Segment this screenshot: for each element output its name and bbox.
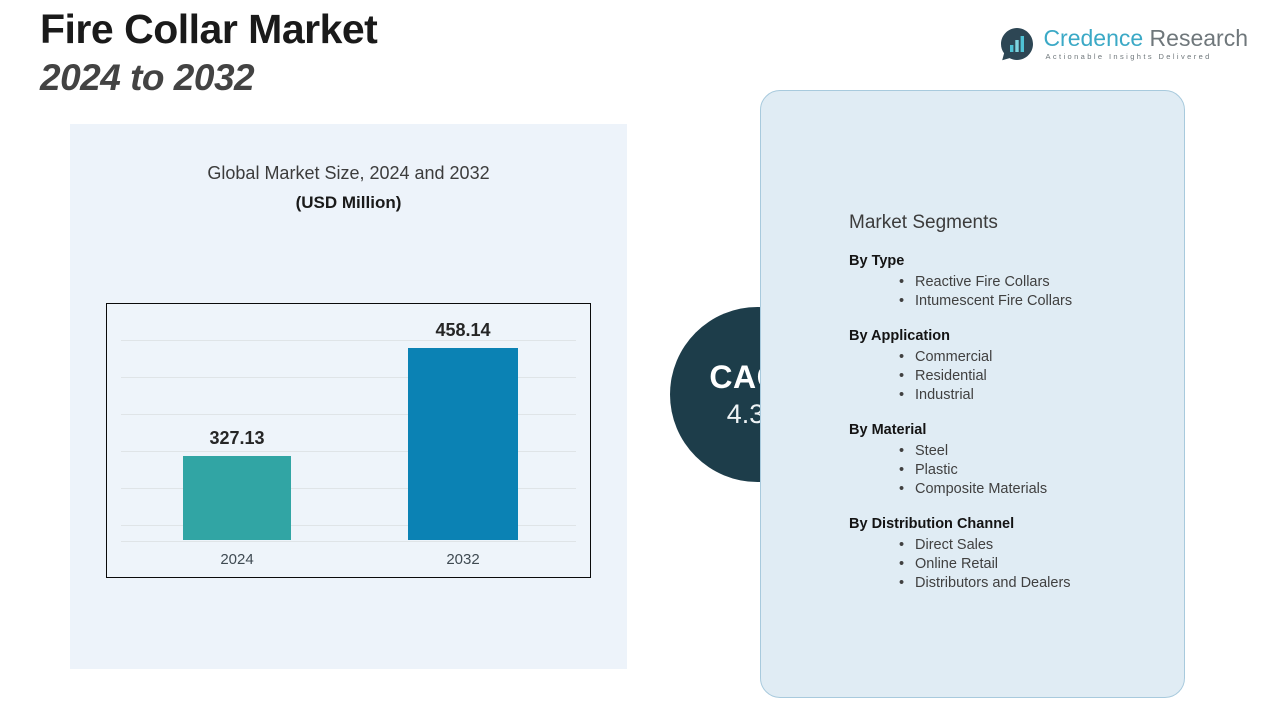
- segment-heading: By Type: [849, 251, 1168, 271]
- page-title: Fire Collar Market 2024 to 2032: [40, 4, 377, 102]
- list-item: Direct Sales: [899, 536, 1168, 555]
- logo-tagline: Actionable Insights Delivered: [1043, 51, 1248, 62]
- segments-title: Market Segments: [849, 211, 998, 235]
- chart-bars: 327.13 458.14 2024 2032: [107, 304, 590, 577]
- title-year-range: 2024 to 2032: [40, 54, 377, 102]
- axis-label-2032: 2032: [408, 551, 518, 568]
- segment-heading: By Application: [849, 326, 1168, 346]
- logo-brand-line: Credence Research: [1043, 26, 1248, 51]
- chart-panel: Global Market Size, 2024 and 2032 (USD M…: [70, 124, 627, 669]
- segments-list: By Type Reactive Fire Collars Intumescen…: [849, 251, 1168, 593]
- bar-2024: [183, 456, 291, 540]
- market-segments-panel: Market Segments By Type Reactive Fire Co…: [760, 90, 1185, 698]
- list-item: Industrial: [899, 386, 1168, 405]
- list-item: Residential: [899, 367, 1168, 386]
- list-item: Plastic: [899, 461, 1168, 480]
- logo-brand-secondary: Research: [1143, 25, 1248, 51]
- segment-group-by-type: By Type Reactive Fire Collars Intumescen…: [849, 251, 1168, 311]
- list-item: Commercial: [899, 348, 1168, 367]
- list-item: Composite Materials: [899, 480, 1168, 499]
- chart-title: Global Market Size, 2024 and 2032: [70, 160, 627, 186]
- segment-items: Steel Plastic Composite Materials: [849, 442, 1168, 499]
- title-primary: Fire Collar Market: [40, 4, 377, 54]
- segment-heading: By Distribution Channel: [849, 514, 1168, 534]
- segment-group-by-application: By Application Commercial Residential In…: [849, 326, 1168, 405]
- chart-units: (USD Million): [70, 190, 627, 216]
- logo-brand-primary: Credence: [1043, 25, 1143, 51]
- list-item: Steel: [899, 442, 1168, 461]
- list-item: Distributors and Dealers: [899, 574, 1168, 593]
- list-item: Intumescent Fire Collars: [899, 292, 1168, 311]
- segment-group-by-distribution-channel: By Distribution Channel Direct Sales Onl…: [849, 514, 1168, 593]
- credence-logo-icon: [999, 26, 1035, 62]
- segment-group-by-material: By Material Steel Plastic Composite Mate…: [849, 420, 1168, 499]
- bar-value-2024: 327.13: [183, 428, 291, 449]
- axis-label-2024: 2024: [183, 551, 291, 568]
- bar-value-2032: 458.14: [403, 320, 523, 341]
- list-item: Online Retail: [899, 555, 1168, 574]
- segment-items: Commercial Residential Industrial: [849, 348, 1168, 405]
- segment-items: Direct Sales Online Retail Distributors …: [849, 536, 1168, 593]
- list-item: Reactive Fire Collars: [899, 273, 1168, 292]
- bar-2032: [408, 348, 518, 540]
- chart-heading: Global Market Size, 2024 and 2032 (USD M…: [70, 160, 627, 216]
- segment-items: Reactive Fire Collars Intumescent Fire C…: [849, 273, 1168, 311]
- brand-logo: Credence Research Actionable Insights De…: [999, 26, 1248, 62]
- segment-heading: By Material: [849, 420, 1168, 440]
- bar-chart-plot: 327.13 458.14 2024 2032: [106, 303, 591, 578]
- logo-wordmark: Credence Research Actionable Insights De…: [1043, 26, 1248, 62]
